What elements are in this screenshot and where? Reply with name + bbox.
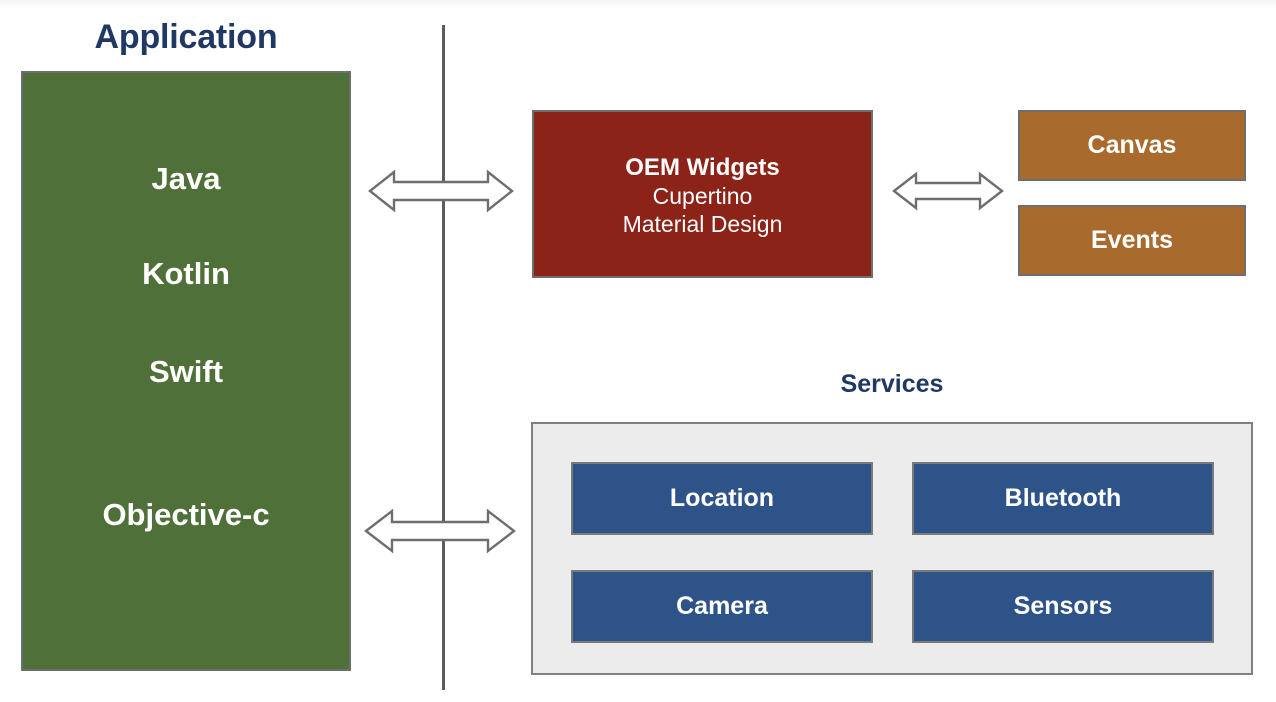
service-label-sensors: Sensors bbox=[1014, 592, 1113, 621]
language-item-java: Java bbox=[23, 161, 349, 197]
service-box-location: Location bbox=[571, 462, 873, 535]
double-arrow-app-to-services bbox=[364, 507, 516, 555]
service-label-location: Location bbox=[670, 484, 774, 513]
oem-widgets-line-material-design: Material Design bbox=[623, 210, 783, 238]
application-box: Java Kotlin Swift Objective-c bbox=[21, 71, 351, 671]
service-label-camera: Camera bbox=[676, 592, 768, 621]
vertical-divider-line bbox=[442, 25, 445, 690]
canvas-box: Canvas bbox=[1018, 110, 1246, 181]
oem-widgets-line-cupertino: Cupertino bbox=[653, 182, 753, 210]
oem-widgets-box: OEM Widgets Cupertino Material Design bbox=[532, 110, 873, 278]
language-item-kotlin: Kotlin bbox=[23, 256, 349, 292]
double-arrow-oem-to-canvas bbox=[892, 170, 1004, 212]
events-label: Events bbox=[1091, 226, 1173, 255]
canvas-label: Canvas bbox=[1088, 131, 1177, 160]
service-box-camera: Camera bbox=[571, 570, 873, 643]
diagram-canvas: Application Java Kotlin Swift Objective-… bbox=[0, 0, 1276, 702]
language-item-objective-c: Objective-c bbox=[23, 497, 349, 533]
service-box-bluetooth: Bluetooth bbox=[912, 462, 1214, 535]
services-heading: Services bbox=[531, 370, 1253, 399]
oem-widgets-title: OEM Widgets bbox=[625, 154, 779, 182]
service-box-sensors: Sensors bbox=[912, 570, 1214, 643]
language-item-swift: Swift bbox=[23, 354, 349, 390]
double-arrow-app-to-oem bbox=[368, 168, 514, 214]
application-heading: Application bbox=[21, 18, 351, 57]
events-box: Events bbox=[1018, 205, 1246, 276]
service-label-bluetooth: Bluetooth bbox=[1005, 484, 1122, 513]
top-band bbox=[0, 0, 1276, 10]
